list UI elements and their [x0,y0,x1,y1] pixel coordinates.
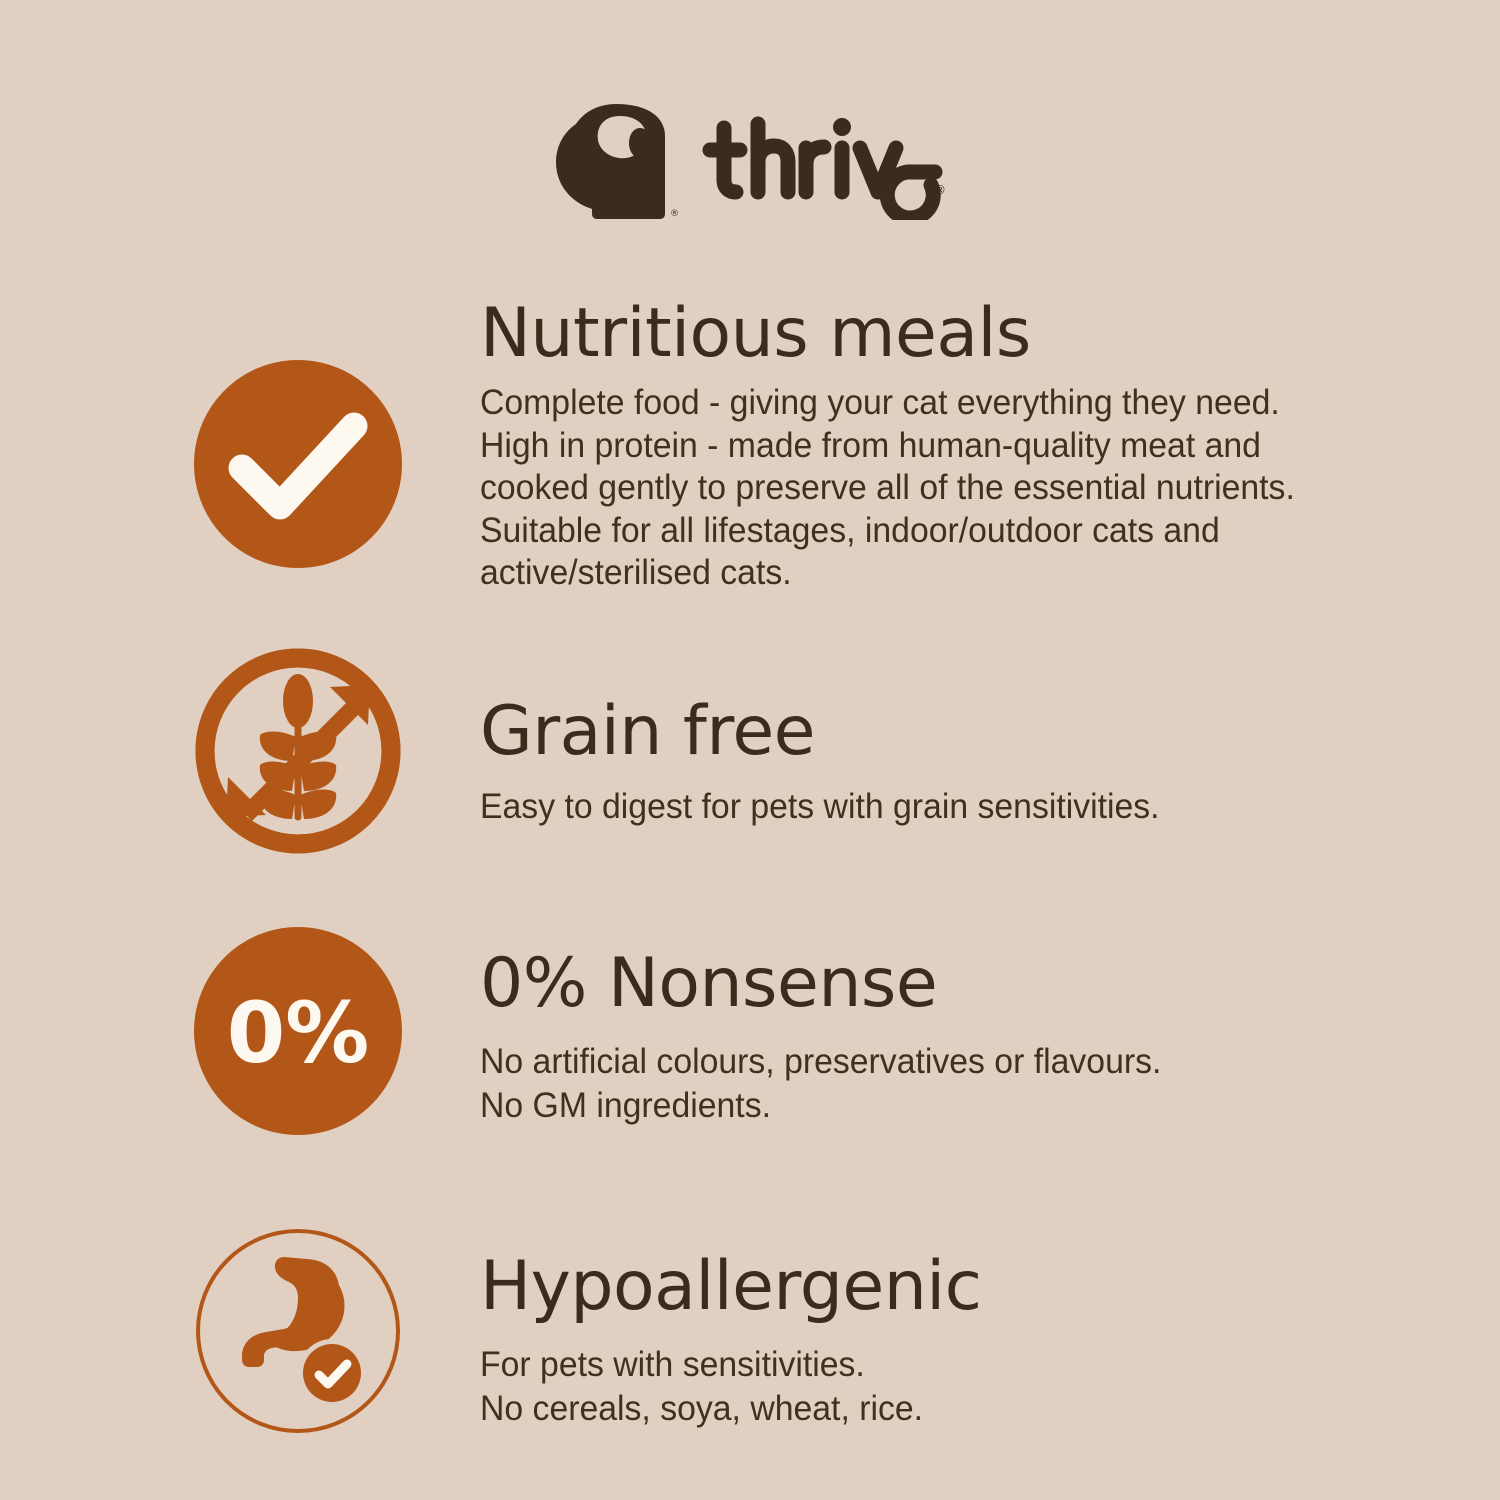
zero-percent-icon: 0% [192,925,404,1137]
infographic-page: ® [0,0,1500,1500]
feature-text-block: Hypoallergenic For pets with sensitiviti… [480,1253,1410,1431]
no-grain-icon [192,645,404,857]
feature-title: Grain free [480,698,1410,766]
feature-title: Hypoallergenic [480,1253,1410,1321]
brand-wordmark: ® [702,102,946,220]
feature-grain-free: Grain free Easy to digest for pets with … [0,640,1500,860]
feature-text-block: Grain free Easy to digest for pets with … [480,698,1410,829]
zero-percent-label: 0% [227,984,370,1082]
svg-text:®: ® [934,183,946,197]
feature-description: No artificial colours, preservatives or … [480,1040,1377,1128]
feature-description: Complete food - giving your cat everythi… [480,382,1377,595]
feature-zero-nonsense: 0% 0% Nonsense No artificial colours, pr… [0,925,1500,1155]
feature-title: 0% Nonsense [480,950,1410,1018]
svg-text:®: ® [670,209,679,219]
feature-description: For pets with sensitivities. No cereals,… [480,1343,1377,1431]
feature-text-block: 0% Nonsense No artificial colours, prese… [480,950,1410,1128]
feature-description: Easy to digest for pets with grain sensi… [480,786,1377,829]
brand-logo: ® [0,96,1500,226]
dog-cat-silhouette-logo-icon: ® [554,102,680,220]
stomach-check-icon [192,1225,404,1437]
feature-nutritious-meals: Nutritious meals Complete food - giving … [0,300,1500,610]
feature-text-block: Nutritious meals Complete food - giving … [480,300,1410,595]
feature-hypoallergenic: Hypoallergenic For pets with sensitiviti… [0,1225,1500,1455]
check-circle-icon [192,358,404,570]
feature-title: Nutritious meals [480,300,1410,368]
